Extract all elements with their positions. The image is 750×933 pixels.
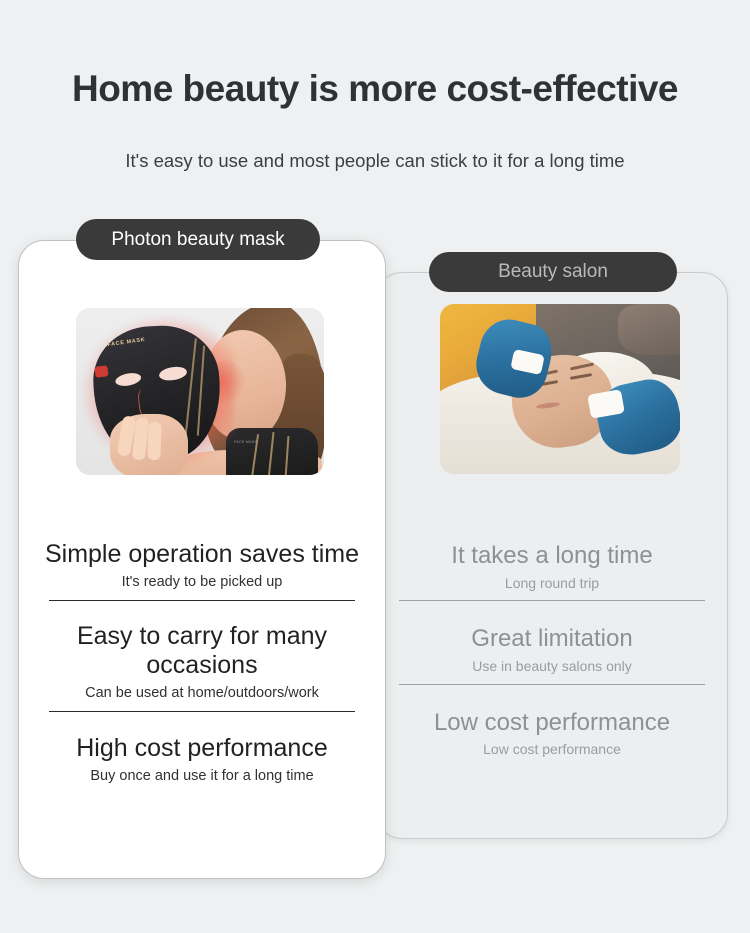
technician-arm — [618, 304, 680, 355]
feature-title: It takes a long time — [376, 542, 728, 570]
face-mask-brand-label: FACE MASK — [107, 337, 146, 348]
feature-title: Easy to carry for many occasions — [18, 622, 386, 680]
mask-eye-opening — [158, 365, 188, 382]
feature-divider — [49, 711, 355, 712]
feature-row: Great limitation Use in beauty salons on… — [376, 625, 728, 684]
neck-wrap-brand-text: FACE MASK — [234, 440, 257, 444]
page-subtitle: It's easy to use and most people can sti… — [0, 150, 750, 172]
led-neck-wrap: FACE MASK — [226, 428, 318, 475]
mask-accent-line — [185, 338, 197, 436]
feature-divider — [399, 684, 705, 685]
badge-photon-beauty-mask: Photon beauty mask — [76, 219, 320, 260]
feature-row: It takes a long time Long round trip — [376, 542, 728, 601]
feature-row: High cost performance Buy once and use i… — [18, 734, 386, 785]
feature-title: Simple operation saves time — [18, 540, 386, 569]
feature-subtitle: Low cost performance — [376, 741, 728, 758]
infographic-page: Home beauty is more cost-effective It's … — [0, 0, 750, 933]
feature-row: Easy to carry for many occasions Can be … — [18, 622, 386, 712]
neck-wrap-accent-line — [267, 432, 274, 475]
badge-beauty-salon: Beauty salon — [429, 252, 677, 292]
mask-accent-line — [197, 346, 205, 436]
feature-subtitle: Can be used at home/outdoors/work — [18, 685, 386, 702]
feature-divider — [49, 600, 355, 601]
feature-list-beauty-salon: It takes a long time Long round trip Gre… — [376, 540, 728, 758]
feature-subtitle: Buy once and use it for a long time — [18, 768, 386, 785]
feature-row: Simple operation saves time It's ready t… — [18, 540, 386, 601]
feature-subtitle: It's ready to be picked up — [18, 574, 386, 591]
feature-row: Low cost performance Low cost performanc… — [376, 709, 728, 758]
feature-title: High cost performance — [18, 734, 386, 763]
page-title: Home beauty is more cost-effective — [0, 68, 750, 110]
model-finger — [147, 422, 161, 460]
mask-nose-contour — [137, 388, 153, 417]
photo-beauty-salon — [440, 304, 680, 474]
feature-divider — [399, 600, 705, 601]
feature-title: Great limitation — [376, 625, 728, 653]
feature-title: Low cost performance — [376, 709, 728, 737]
feature-list-photon-mask: Simple operation saves time It's ready t… — [18, 540, 386, 785]
mask-red-led-chip — [94, 365, 108, 378]
photo-photon-mask: FACE MASK FACE MASK — [76, 308, 324, 475]
neck-wrap-accent-line — [285, 436, 289, 475]
feature-subtitle: Use in beauty salons only — [376, 658, 728, 675]
mask-eye-opening — [114, 371, 142, 388]
feature-subtitle: Long round trip — [376, 575, 728, 592]
